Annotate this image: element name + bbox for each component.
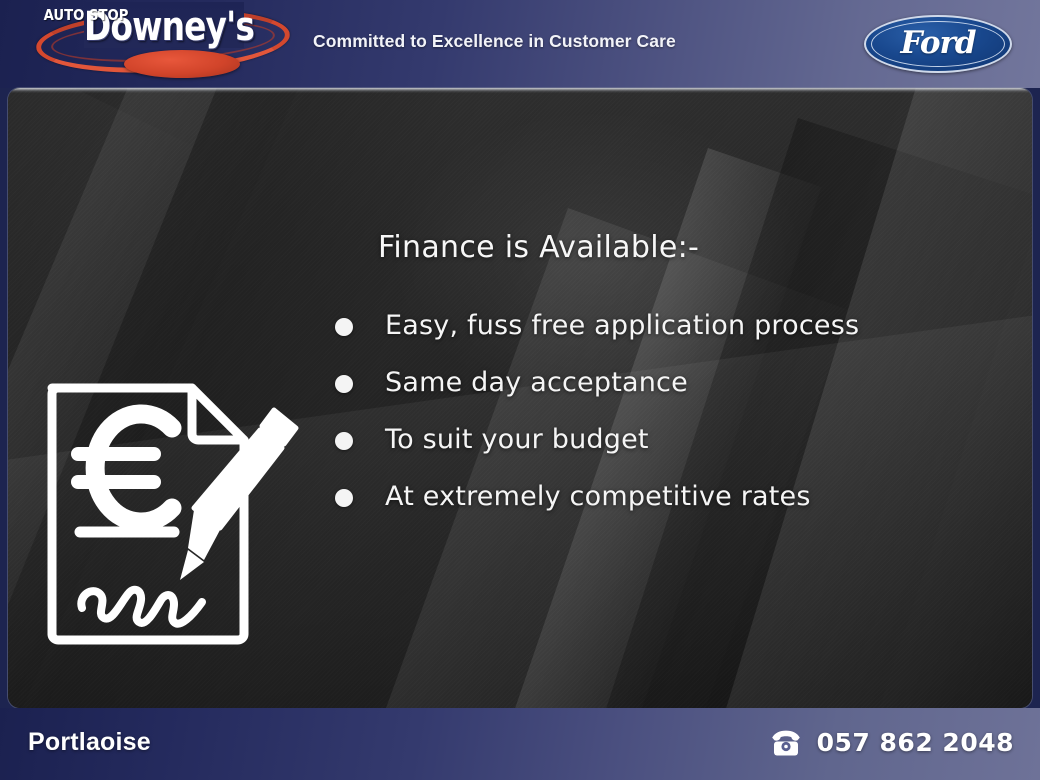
logo-badge-shape	[124, 50, 240, 78]
dealer-location: Portlaoise	[28, 728, 151, 757]
dealer-logo[interactable]: Downey's AUTO STOP	[28, 2, 298, 86]
telephone-icon	[769, 730, 803, 756]
footer-bar: Portlaoise 057 862 2048	[0, 708, 1040, 780]
header-tagline: Committed to Excellence in Customer Care	[313, 31, 676, 52]
euro-document-signature-icon	[38, 366, 318, 656]
benefits-list: Easy, fuss free application process Same…	[327, 306, 1027, 534]
advertisement-banner: Downey's AUTO STOP Committed to Excellen…	[0, 0, 1040, 780]
header-bar: Downey's AUTO STOP Committed to Excellen…	[0, 0, 1040, 88]
panel-top-highlight	[8, 88, 1032, 93]
contact-phone[interactable]: 057 862 2048	[769, 728, 1014, 757]
ford-logo[interactable]: Ford	[864, 15, 1012, 73]
ford-logo-text: Ford	[864, 23, 1012, 63]
list-item: At extremely competitive rates	[327, 477, 1027, 534]
list-item: Easy, fuss free application process	[327, 306, 1027, 363]
list-item: To suit your budget	[327, 420, 1027, 477]
dealer-logo-subtitle: AUTO STOP	[35, 7, 137, 24]
phone-number: 057 862 2048	[817, 728, 1014, 757]
page-title: Finance is Available:-	[378, 230, 699, 265]
list-item: Same day acceptance	[327, 363, 1027, 420]
main-content-panel: Finance is Available:- Easy, fuss free a…	[8, 88, 1032, 708]
